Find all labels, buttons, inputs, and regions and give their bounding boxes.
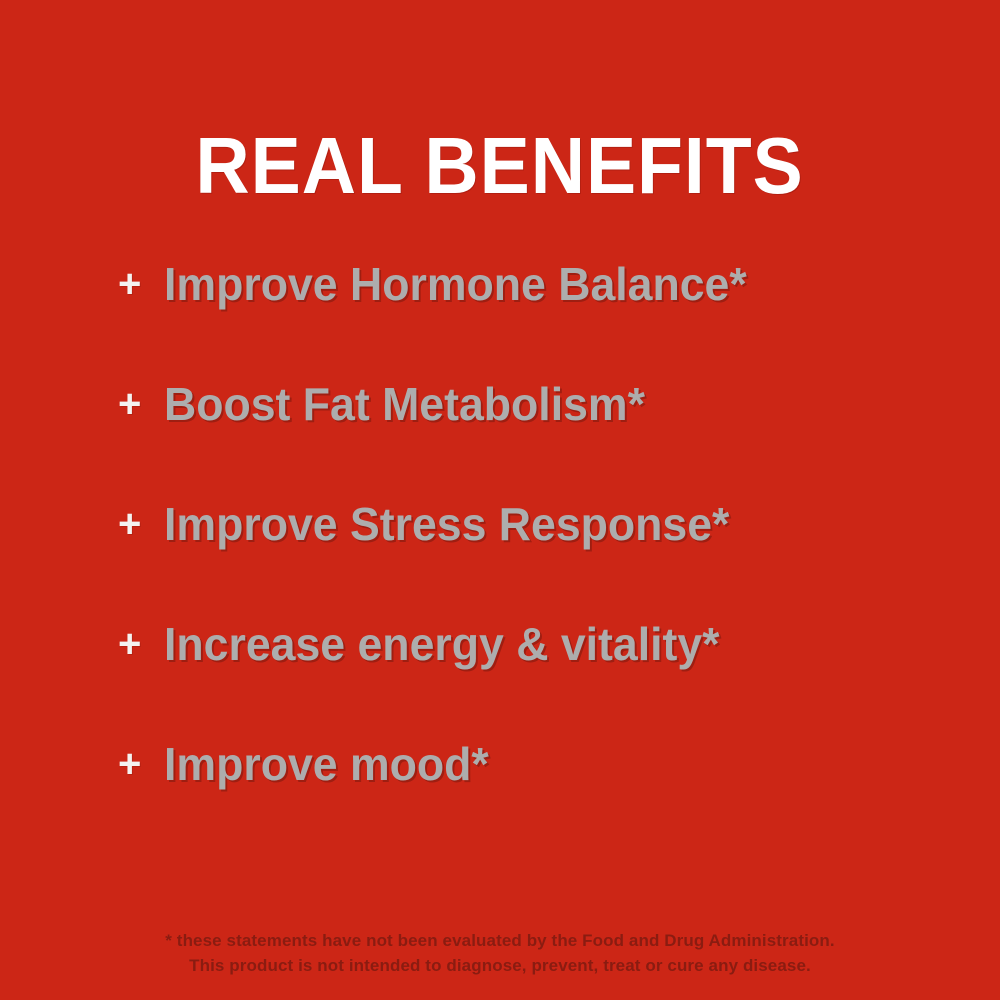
disclaimer-line-1: * these statements have not been evaluat… <box>0 928 1000 953</box>
benefit-label: Improve Stress Response* <box>164 498 729 550</box>
list-item: + Improve mood* <box>118 738 918 858</box>
plus-icon: + <box>118 258 164 310</box>
plus-icon: + <box>118 378 164 430</box>
list-item: + Improve Hormone Balance* <box>118 258 918 378</box>
benefit-label: Improve Hormone Balance* <box>164 258 747 310</box>
benefit-label: Increase energy & vitality* <box>164 618 720 670</box>
title-block: REAL BENEFITS <box>0 72 1000 259</box>
plus-icon: + <box>118 498 164 550</box>
benefit-label: Improve mood* <box>164 738 489 790</box>
list-item: + Boost Fat Metabolism* <box>118 378 918 498</box>
plus-icon: + <box>118 738 164 790</box>
page-title: REAL BENEFITS <box>196 126 804 206</box>
disclaimer-block: * these statements have not been evaluat… <box>0 928 1000 978</box>
list-item: + Increase energy & vitality* <box>118 618 918 738</box>
disclaimer-line-2: This product is not intended to diagnose… <box>0 953 1000 978</box>
list-item: + Improve Stress Response* <box>118 498 918 618</box>
plus-icon: + <box>118 618 164 670</box>
benefit-label: Boost Fat Metabolism* <box>164 378 645 430</box>
benefits-list: + Improve Hormone Balance* + Boost Fat M… <box>118 258 918 858</box>
real-benefits-poster: REAL BENEFITS + Improve Hormone Balance*… <box>0 0 1000 1000</box>
